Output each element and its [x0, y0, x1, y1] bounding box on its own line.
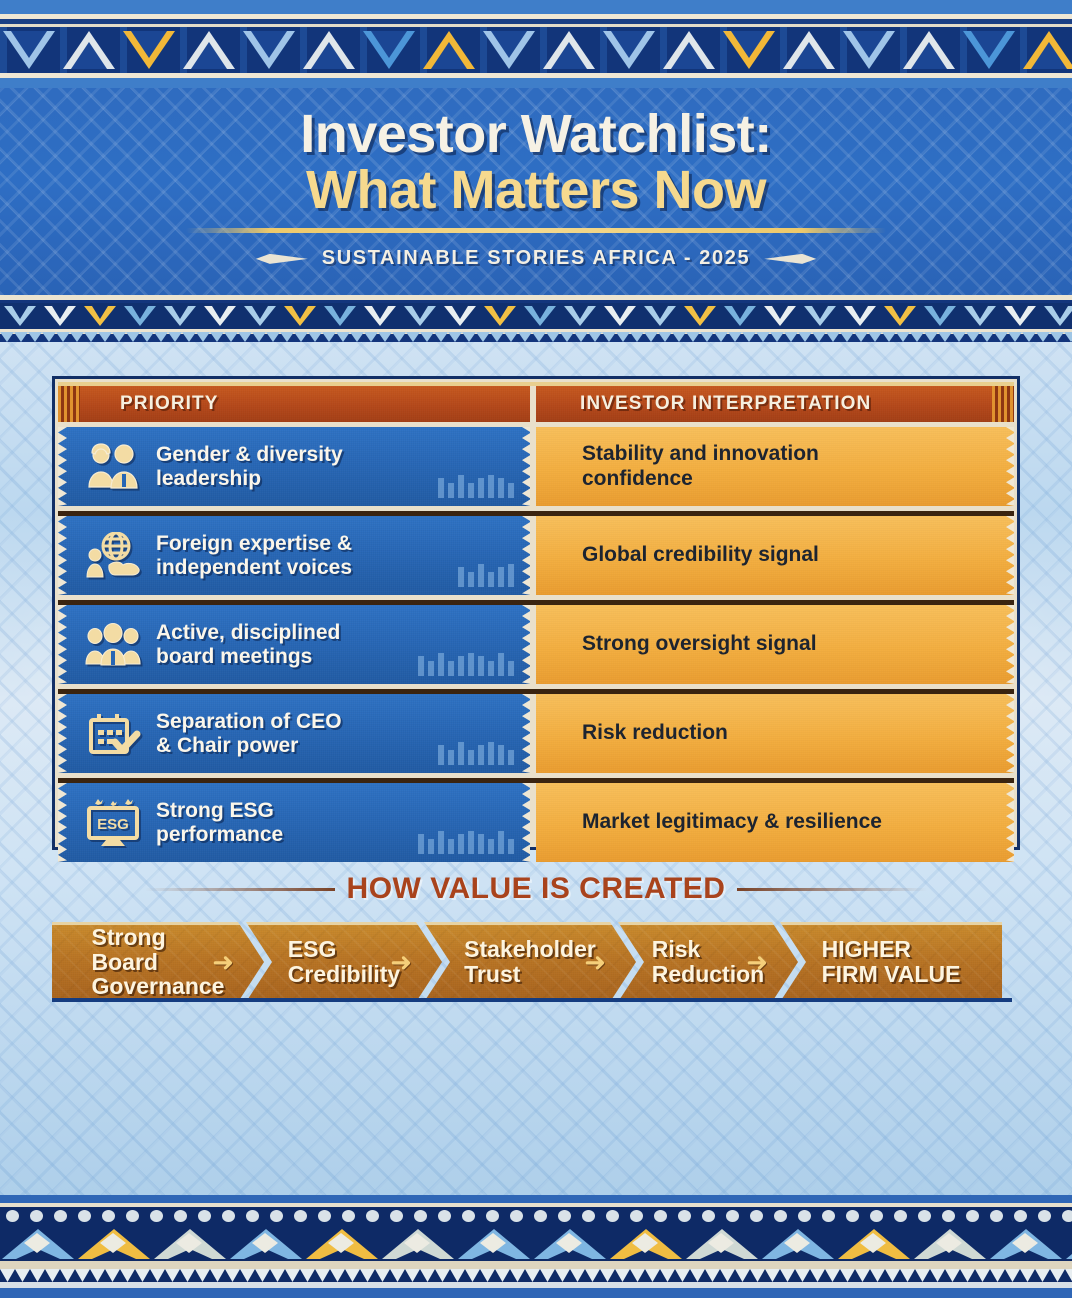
table-row: Gender & diversity leadership Stability … [58, 427, 1014, 506]
sawtooth-motif-icon [994, 332, 1008, 342]
sawtooth-motif-icon [28, 332, 42, 342]
sawtooth-motif-icon [406, 332, 420, 342]
priority-label: Active, disciplined board meetings [156, 621, 340, 669]
dot-motif-icon [960, 1210, 984, 1222]
sawtooth-motif-icon [392, 332, 406, 342]
sawtooth-motif-icon [900, 1269, 915, 1282]
sawtooth-motif-icon [285, 1269, 300, 1282]
sawtooth-motif-icon [826, 332, 840, 342]
priority-label: Strong ESG performance [156, 799, 283, 847]
sawtooth-motif-icon [1022, 332, 1036, 342]
sawtooth-motif-icon [585, 1269, 600, 1282]
chevron-motif-icon [240, 303, 280, 329]
bar-texture-icon [438, 475, 514, 498]
header-banner: Investor Watchlist: What Matters Now SUS… [0, 88, 1072, 295]
flow-step-4: Risk Reduction ➜ [618, 922, 798, 1002]
sawtooth-motif-icon [150, 1269, 165, 1282]
mountain-motif-icon [1064, 1225, 1072, 1261]
sawtooth-motif-icon [330, 1269, 345, 1282]
dot-motif-icon [168, 1210, 192, 1222]
chevron-motif-icon [680, 303, 720, 329]
flow-underline [52, 998, 1012, 1002]
dot-motif-icon [0, 1210, 24, 1222]
flow-step-1: Strong Board Governance ➜ [52, 922, 264, 1002]
mountain-motif-icon [608, 1225, 684, 1261]
sawtooth-motif-icon [364, 332, 378, 342]
sawtooth-motif-icon [966, 332, 980, 342]
sawtooth-motif-icon [980, 332, 994, 342]
sawtooth-motif-icon [588, 332, 602, 342]
sawtooth-motif-icon [795, 1269, 810, 1282]
sawtooth-motif-icon [405, 1269, 420, 1282]
sawtooth-motif-icon [300, 1269, 315, 1282]
triangle-motif-icon [420, 27, 480, 73]
chevron-motif-icon [480, 303, 520, 329]
interpretation-label: Stability and innovation confidence [582, 442, 819, 492]
flow-step-label: Stakeholder Trust [458, 937, 602, 987]
sawtooth-motif-icon [495, 1269, 510, 1282]
sawtooth-motif-icon [45, 1269, 60, 1282]
sawtooth-motif-icon [840, 1269, 855, 1282]
dot-motif-icon [744, 1210, 768, 1222]
sawtooth-motif-icon [765, 1269, 780, 1282]
sawtooth-motif-icon [1036, 332, 1050, 342]
chevron-motif-icon [440, 303, 480, 329]
sawtooth-motif-icon [490, 332, 504, 342]
sawtooth-motif-icon [990, 1269, 1005, 1282]
chevron-motif-icon [360, 303, 400, 329]
table-row: Separation of CEO & Chair power Risk red… [58, 694, 1014, 773]
table-row: Foreign expertise & independent voices G… [58, 516, 1014, 595]
top-border-pattern [0, 0, 1072, 88]
dot-motif-icon [312, 1210, 336, 1222]
sawtooth-motif-icon [840, 332, 854, 342]
chevron-motif-icon [400, 303, 440, 329]
sawtooth-motif-icon [675, 1269, 690, 1282]
interpretation-label: Market legitimacy & resilience [582, 810, 882, 835]
sawtooth-motif-icon [812, 332, 826, 342]
dot-motif-icon [264, 1210, 288, 1222]
header-ornament-icon [58, 386, 80, 422]
interpretation-cell: Risk reduction [536, 694, 1014, 773]
flow-step-label: ESG Credibility [282, 937, 406, 987]
sawtooth-motif-icon [378, 332, 392, 342]
priority-label: Foreign expertise & independent voices [156, 532, 352, 580]
sawtooth-motif-icon [224, 332, 238, 342]
dot-motif-icon [624, 1210, 648, 1222]
priority-cell: ESG Strong ESG performance [58, 783, 530, 862]
sawtooth-motif-icon [720, 1269, 735, 1282]
sawtooth-motif-icon [868, 332, 882, 342]
sawtooth-motif-icon [750, 1269, 765, 1282]
flow-step-3: Stakeholder Trust ➜ [424, 922, 636, 1002]
sawtooth-motif-icon [135, 1269, 150, 1282]
sawtooth-motif-icon [574, 332, 588, 342]
flow-step-label: Strong Board Governance [86, 925, 231, 999]
dot-motif-icon [240, 1210, 264, 1222]
sawtooth-motif-icon [616, 332, 630, 342]
sawtooth-motif-icon [270, 1269, 285, 1282]
sawtooth-motif-icon [14, 332, 28, 342]
chevron-motif-icon [200, 303, 240, 329]
main-content: PRIORITY INVESTOR INTERPRETATION [0, 342, 1072, 1195]
diamond-ornament-right-icon [764, 254, 816, 264]
dot-motif-icon [288, 1210, 312, 1222]
dot-motif-icon [888, 1210, 912, 1222]
sawtooth-motif-icon [560, 332, 574, 342]
dot-motif-icon [672, 1210, 696, 1222]
dot-motif-icon [696, 1210, 720, 1222]
bar-texture-icon [458, 564, 514, 587]
mountain-motif-icon [304, 1225, 380, 1261]
dot-motif-icon [456, 1210, 480, 1222]
group-people-icon [82, 617, 144, 673]
sawtooth-motif-icon [1050, 1269, 1065, 1282]
sawtooth-motif-icon [780, 1269, 795, 1282]
dot-motif-icon [1056, 1210, 1072, 1222]
calendar-check-icon [82, 706, 144, 762]
sawtooth-motif-icon [924, 332, 938, 342]
sawtooth-motif-icon [120, 1269, 135, 1282]
dot-motif-icon [216, 1210, 240, 1222]
dot-motif-icon [72, 1210, 96, 1222]
sawtooth-motif-icon [930, 1269, 945, 1282]
sawtooth-motif-icon [280, 332, 294, 342]
chevron-motif-icon [0, 303, 40, 329]
flow-step-label: HIGHER FIRM VALUE [816, 937, 967, 987]
sawtooth-motif-icon [672, 332, 686, 342]
dot-motif-icon [912, 1210, 936, 1222]
priority-cell: Gender & diversity leadership [58, 427, 530, 506]
dot-motif-icon [504, 1210, 528, 1222]
mountain-motif-icon [684, 1225, 760, 1261]
triangle-motif-icon [900, 27, 960, 73]
sawtooth-motif-icon [350, 332, 364, 342]
dot-motif-icon [792, 1210, 816, 1222]
chevron-motif-icon [920, 303, 960, 329]
dot-motif-icon [192, 1210, 216, 1222]
sawtooth-motif-icon [180, 1269, 195, 1282]
sawtooth-motif-icon [810, 1269, 825, 1282]
triangle-motif-icon [600, 27, 660, 73]
sawtooth-motif-icon [434, 332, 448, 342]
chevron-motif-icon [120, 303, 160, 329]
sawtooth-motif-icon [870, 1269, 885, 1282]
sawtooth-motif-icon [570, 1269, 585, 1282]
mountain-motif-icon [760, 1225, 836, 1261]
mountain-motif-icon [0, 1225, 76, 1261]
sawtooth-motif-icon [518, 332, 532, 342]
sawtooth-motif-icon [546, 332, 560, 342]
flow-step-2: ESG Credibility ➜ [246, 922, 442, 1002]
interpretation-cell: Global credibility signal [536, 516, 1014, 595]
dot-motif-icon [936, 1210, 960, 1222]
chevron-motif-icon [160, 303, 200, 329]
dot-motif-icon [552, 1210, 576, 1222]
mountain-motif-icon [380, 1225, 456, 1261]
value-flow-title: HOW VALUE IS CREATED [347, 872, 726, 906]
sawtooth-motif-icon [644, 332, 658, 342]
sawtooth-motif-icon [210, 1269, 225, 1282]
sawtooth-motif-icon [480, 1269, 495, 1282]
sawtooth-motif-icon [390, 1269, 405, 1282]
sawtooth-motif-icon [154, 332, 168, 342]
infographic-page: Investor Watchlist: What Matters Now SUS… [0, 0, 1072, 1298]
two-people-icon [82, 439, 144, 495]
sawtooth-motif-icon [112, 332, 126, 342]
triangle-motif-icon [540, 27, 600, 73]
dot-motif-icon [816, 1210, 840, 1222]
triangle-motif-icon [780, 27, 840, 73]
sawtooth-motif-icon [1064, 332, 1072, 342]
dot-motif-icon [648, 1210, 672, 1222]
flow-step-5: HIGHER FIRM VALUE [780, 922, 1002, 1002]
sawtooth-motif-icon [742, 332, 756, 342]
triangle-motif-icon [480, 27, 540, 73]
sawtooth-motif-icon [600, 1269, 615, 1282]
sawtooth-motif-icon [476, 332, 490, 342]
dot-motif-icon [720, 1210, 744, 1222]
chevron-motif-icon [880, 303, 920, 329]
title-divider-rule [186, 228, 886, 233]
header-ornament-icon [992, 386, 1014, 422]
dot-motif-icon [984, 1210, 1008, 1222]
mountain-motif-icon [152, 1225, 228, 1261]
sawtooth-motif-icon [462, 332, 476, 342]
bar-texture-icon [438, 742, 514, 765]
triangle-motif-icon [60, 27, 120, 73]
page-title-line2: What Matters Now [0, 162, 1072, 218]
sawtooth-motif-icon [165, 1269, 180, 1282]
sawtooth-motif-icon [42, 332, 56, 342]
sawtooth-motif-icon [525, 1269, 540, 1282]
dot-motif-icon [408, 1210, 432, 1222]
value-flow-chain: Strong Board Governance ➜ ESG Credibilit… [52, 922, 1024, 1002]
sawtooth-motif-icon [784, 332, 798, 342]
column-header-priority: PRIORITY [58, 386, 530, 422]
triangle-motif-icon [120, 27, 180, 73]
priority-cell: Active, disciplined board meetings [58, 605, 530, 684]
chevron-motif-icon [720, 303, 760, 329]
dot-motif-icon [576, 1210, 600, 1222]
sawtooth-motif-icon [90, 1269, 105, 1282]
dot-motif-icon [120, 1210, 144, 1222]
sawtooth-motif-icon [658, 332, 672, 342]
sawtooth-motif-icon [15, 1269, 30, 1282]
chevron-motif-icon [760, 303, 800, 329]
dot-motif-icon [48, 1210, 72, 1222]
dot-motif-icon [600, 1210, 624, 1222]
sawtooth-motif-icon [98, 332, 112, 342]
triangle-motif-icon [720, 27, 780, 73]
chevron-motif-icon [1000, 303, 1040, 329]
chevron-motif-icon [600, 303, 640, 329]
sawtooth-motif-icon [30, 1269, 45, 1282]
arrow-right-icon: ➜ [212, 949, 234, 975]
mountain-motif-icon [532, 1225, 608, 1261]
column-header-priority-label: PRIORITY [120, 393, 219, 415]
sawtooth-motif-icon [322, 332, 336, 342]
chevron-motif-icon [1040, 303, 1072, 329]
triangle-motif-icon [1020, 27, 1072, 73]
triangle-motif-icon [360, 27, 420, 73]
table-row: ESG Strong ESG performance [58, 783, 1014, 862]
sawtooth-motif-icon [255, 1269, 270, 1282]
interpretation-label: Strong oversight signal [582, 632, 817, 657]
sawtooth-motif-icon [195, 1269, 210, 1282]
sawtooth-motif-icon [126, 332, 140, 342]
sawtooth-motif-icon [140, 332, 154, 342]
sawtooth-motif-icon [315, 1269, 330, 1282]
svg-text:ESG: ESG [97, 816, 129, 833]
sawtooth-motif-icon [540, 1269, 555, 1282]
sawtooth-motif-icon [896, 332, 910, 342]
triangle-motif-icon [660, 27, 720, 73]
sawtooth-motif-icon [196, 332, 210, 342]
sawtooth-motif-icon [700, 332, 714, 342]
section-rule-right [737, 888, 927, 891]
sawtooth-motif-icon [885, 1269, 900, 1282]
sawtooth-motif-icon [1005, 1269, 1020, 1282]
value-flow-section: HOW VALUE IS CREATED [0, 872, 1072, 906]
mountain-motif-icon [912, 1225, 988, 1261]
globe-hand-icon [82, 528, 144, 584]
mountain-motif-icon [988, 1225, 1064, 1261]
sawtooth-motif-icon [266, 332, 280, 342]
interpretation-cell: Market legitimacy & resilience [536, 783, 1014, 862]
priority-label: Gender & diversity leadership [156, 443, 343, 491]
sawtooth-motif-icon [56, 332, 70, 342]
sawtooth-motif-icon [294, 332, 308, 342]
sawtooth-motif-icon [308, 332, 322, 342]
diamond-ornament-left-icon [256, 254, 308, 264]
chevron-motif-icon [800, 303, 840, 329]
sawtooth-motif-icon [960, 1269, 975, 1282]
sawtooth-motif-icon [70, 332, 84, 342]
sawtooth-motif-icon [238, 332, 252, 342]
dot-motif-icon [432, 1210, 456, 1222]
sawtooth-motif-icon [602, 332, 616, 342]
arrow-right-icon: ➜ [390, 949, 412, 975]
sawtooth-motif-icon [855, 1269, 870, 1282]
bar-texture-icon [418, 653, 514, 676]
chevron-motif-icon [560, 303, 600, 329]
sawtooth-motif-icon [240, 1269, 255, 1282]
sawtooth-motif-icon [615, 1269, 630, 1282]
sawtooth-motif-icon [714, 332, 728, 342]
sawtooth-motif-icon [360, 1269, 375, 1282]
mid-border-pattern [0, 295, 1072, 342]
interpretation-cell: Stability and innovation confidence [536, 427, 1014, 506]
chevron-motif-icon [840, 303, 880, 329]
triangle-motif-icon [960, 27, 1020, 73]
sawtooth-motif-icon [770, 332, 784, 342]
chevron-motif-icon [640, 303, 680, 329]
subtitle: SUSTAINABLE STORIES AFRICA - 2025 [322, 247, 750, 270]
bar-texture-icon [418, 831, 514, 854]
sawtooth-motif-icon [945, 1269, 960, 1282]
priority-table: PRIORITY INVESTOR INTERPRETATION [58, 382, 1014, 867]
sawtooth-motif-icon [630, 1269, 645, 1282]
triangle-motif-icon [180, 27, 240, 73]
sawtooth-motif-icon [532, 332, 546, 342]
column-header-interpretation: INVESTOR INTERPRETATION [536, 386, 1014, 422]
sawtooth-motif-icon [504, 332, 518, 342]
sawtooth-motif-icon [375, 1269, 390, 1282]
dot-motif-icon [24, 1210, 48, 1222]
sawtooth-motif-icon [735, 1269, 750, 1282]
sawtooth-motif-icon [690, 1269, 705, 1282]
sawtooth-motif-icon [756, 332, 770, 342]
sawtooth-motif-icon [336, 332, 350, 342]
sawtooth-motif-icon [0, 1269, 15, 1282]
sawtooth-motif-icon [854, 332, 868, 342]
triangle-motif-icon [240, 27, 300, 73]
table-row: Active, disciplined board meetings Stron… [58, 605, 1014, 684]
chevron-motif-icon [320, 303, 360, 329]
sawtooth-motif-icon [465, 1269, 480, 1282]
sawtooth-motif-icon [938, 332, 952, 342]
bottom-border-pattern [0, 1195, 1072, 1298]
sawtooth-motif-icon [1020, 1269, 1035, 1282]
sawtooth-motif-icon [0, 332, 14, 342]
sawtooth-motif-icon [448, 332, 462, 342]
sawtooth-motif-icon [910, 332, 924, 342]
sawtooth-motif-icon [420, 332, 434, 342]
dot-motif-icon [1008, 1210, 1032, 1222]
mountain-motif-icon [836, 1225, 912, 1261]
sawtooth-motif-icon [952, 332, 966, 342]
interpretation-cell: Strong oversight signal [536, 605, 1014, 684]
arrow-right-icon: ➜ [584, 949, 606, 975]
sawtooth-motif-icon [728, 332, 742, 342]
chevron-motif-icon [80, 303, 120, 329]
sawtooth-motif-icon [450, 1269, 465, 1282]
sawtooth-motif-icon [225, 1269, 240, 1282]
triangle-motif-icon [300, 27, 360, 73]
dot-motif-icon [360, 1210, 384, 1222]
sawtooth-motif-icon [420, 1269, 435, 1282]
sawtooth-motif-icon [975, 1269, 990, 1282]
dot-motif-icon [144, 1210, 168, 1222]
dot-motif-icon [480, 1210, 504, 1222]
sawtooth-motif-icon [825, 1269, 840, 1282]
sawtooth-motif-icon [660, 1269, 675, 1282]
mountain-motif-icon [76, 1225, 152, 1261]
dot-motif-icon [768, 1210, 792, 1222]
section-rule-left [145, 888, 335, 891]
priority-label: Separation of CEO & Chair power [156, 710, 342, 758]
sawtooth-motif-icon [882, 332, 896, 342]
sawtooth-motif-icon [84, 332, 98, 342]
sawtooth-motif-icon [555, 1269, 570, 1282]
dot-motif-icon [336, 1210, 360, 1222]
sawtooth-motif-icon [1008, 332, 1022, 342]
sawtooth-motif-icon [630, 332, 644, 342]
sawtooth-motif-icon [915, 1269, 930, 1282]
sawtooth-motif-icon [1050, 332, 1064, 342]
dot-motif-icon [1032, 1210, 1056, 1222]
sawtooth-motif-icon [182, 332, 196, 342]
column-header-interpretation-label: INVESTOR INTERPRETATION [580, 393, 871, 415]
sawtooth-motif-icon [798, 332, 812, 342]
mountain-motif-icon [456, 1225, 532, 1261]
table-header-row: PRIORITY INVESTOR INTERPRETATION [58, 382, 1014, 422]
dot-motif-icon [840, 1210, 864, 1222]
sawtooth-motif-icon [168, 332, 182, 342]
priority-cell: Foreign expertise & independent voices [58, 516, 530, 595]
dot-motif-icon [864, 1210, 888, 1222]
